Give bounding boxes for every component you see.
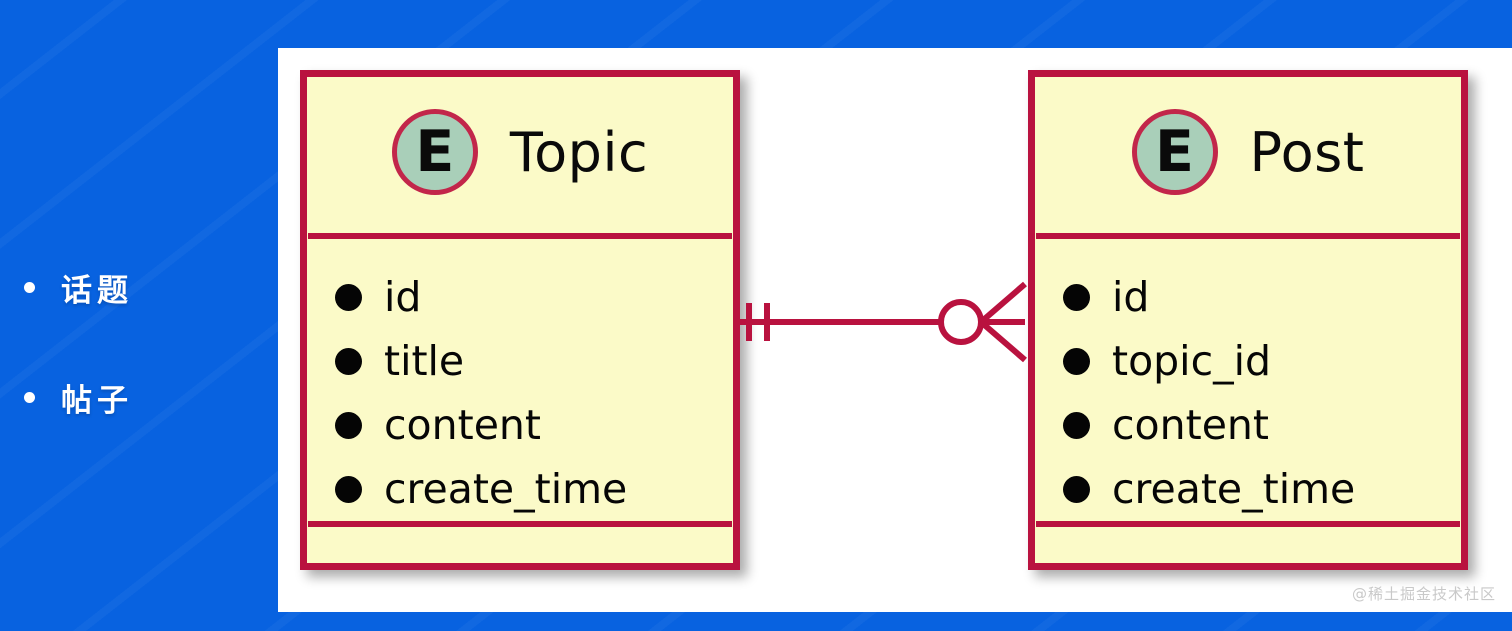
- entity-attribute-list-topic: id title content create_time: [307, 239, 733, 521]
- entity-badge-icon: E: [1132, 109, 1218, 195]
- attribute-name: topic_id: [1112, 341, 1271, 382]
- entity-badge-letter: E: [1155, 124, 1194, 181]
- entity-box-topic: E Topic id title content create_time: [300, 70, 740, 570]
- attribute-bullet-icon: [1063, 476, 1090, 503]
- attribute-name: create_time: [384, 469, 627, 510]
- entity-header-topic: E Topic: [307, 77, 733, 233]
- slide-bullet-list: 话题 帖子: [0, 232, 278, 452]
- attribute-name: id: [1112, 277, 1149, 318]
- canvas-watermark: @稀土掘金技术社区: [1352, 583, 1496, 604]
- attribute-bullet-icon: [335, 476, 362, 503]
- bullet-dot-icon: [24, 392, 35, 403]
- bullet-label: 帖子: [61, 375, 133, 420]
- entity-attribute-list-post: id topic_id content create_time: [1035, 239, 1461, 521]
- list-item: content: [1063, 393, 1461, 457]
- attribute-name: create_time: [1112, 469, 1355, 510]
- entity-badge-letter: E: [415, 124, 454, 181]
- attribute-name: content: [1112, 405, 1269, 446]
- list-item: content: [335, 393, 733, 457]
- attribute-bullet-icon: [335, 348, 362, 375]
- relationship-connector: [733, 258, 1038, 378]
- diagram-canvas: E Topic id title content create_time: [278, 48, 1512, 612]
- list-item: create_time: [335, 457, 733, 521]
- attribute-name: id: [384, 277, 421, 318]
- entity-header-post: E Post: [1035, 77, 1461, 233]
- entity-title: Post: [1250, 121, 1365, 184]
- attribute-name: title: [384, 341, 464, 382]
- entity-footer-compartment: [307, 527, 733, 567]
- list-item: title: [335, 329, 733, 393]
- entity-footer-compartment: [1035, 527, 1461, 567]
- attribute-bullet-icon: [1063, 284, 1090, 311]
- entity-title: Topic: [510, 121, 648, 184]
- list-item: id: [335, 265, 733, 329]
- entity-box-post: E Post id topic_id content create_time: [1028, 70, 1468, 570]
- crows-foot-upper-icon: [981, 284, 1025, 322]
- attribute-bullet-icon: [1063, 412, 1090, 439]
- bullet-label: 话题: [61, 265, 133, 310]
- list-item: topic_id: [1063, 329, 1461, 393]
- attribute-name: content: [384, 405, 541, 446]
- attribute-bullet-icon: [1063, 348, 1090, 375]
- entity-badge-icon: E: [392, 109, 478, 195]
- bullet-dot-icon: [24, 282, 35, 293]
- list-item: 帖子: [0, 342, 278, 452]
- attribute-bullet-icon: [335, 284, 362, 311]
- list-item: id: [1063, 265, 1461, 329]
- list-item: 话题: [0, 232, 278, 342]
- crows-foot-lower-icon: [981, 322, 1025, 360]
- cardinality-zero-circle-icon: [941, 302, 981, 342]
- list-item: create_time: [1063, 457, 1461, 521]
- attribute-bullet-icon: [335, 412, 362, 439]
